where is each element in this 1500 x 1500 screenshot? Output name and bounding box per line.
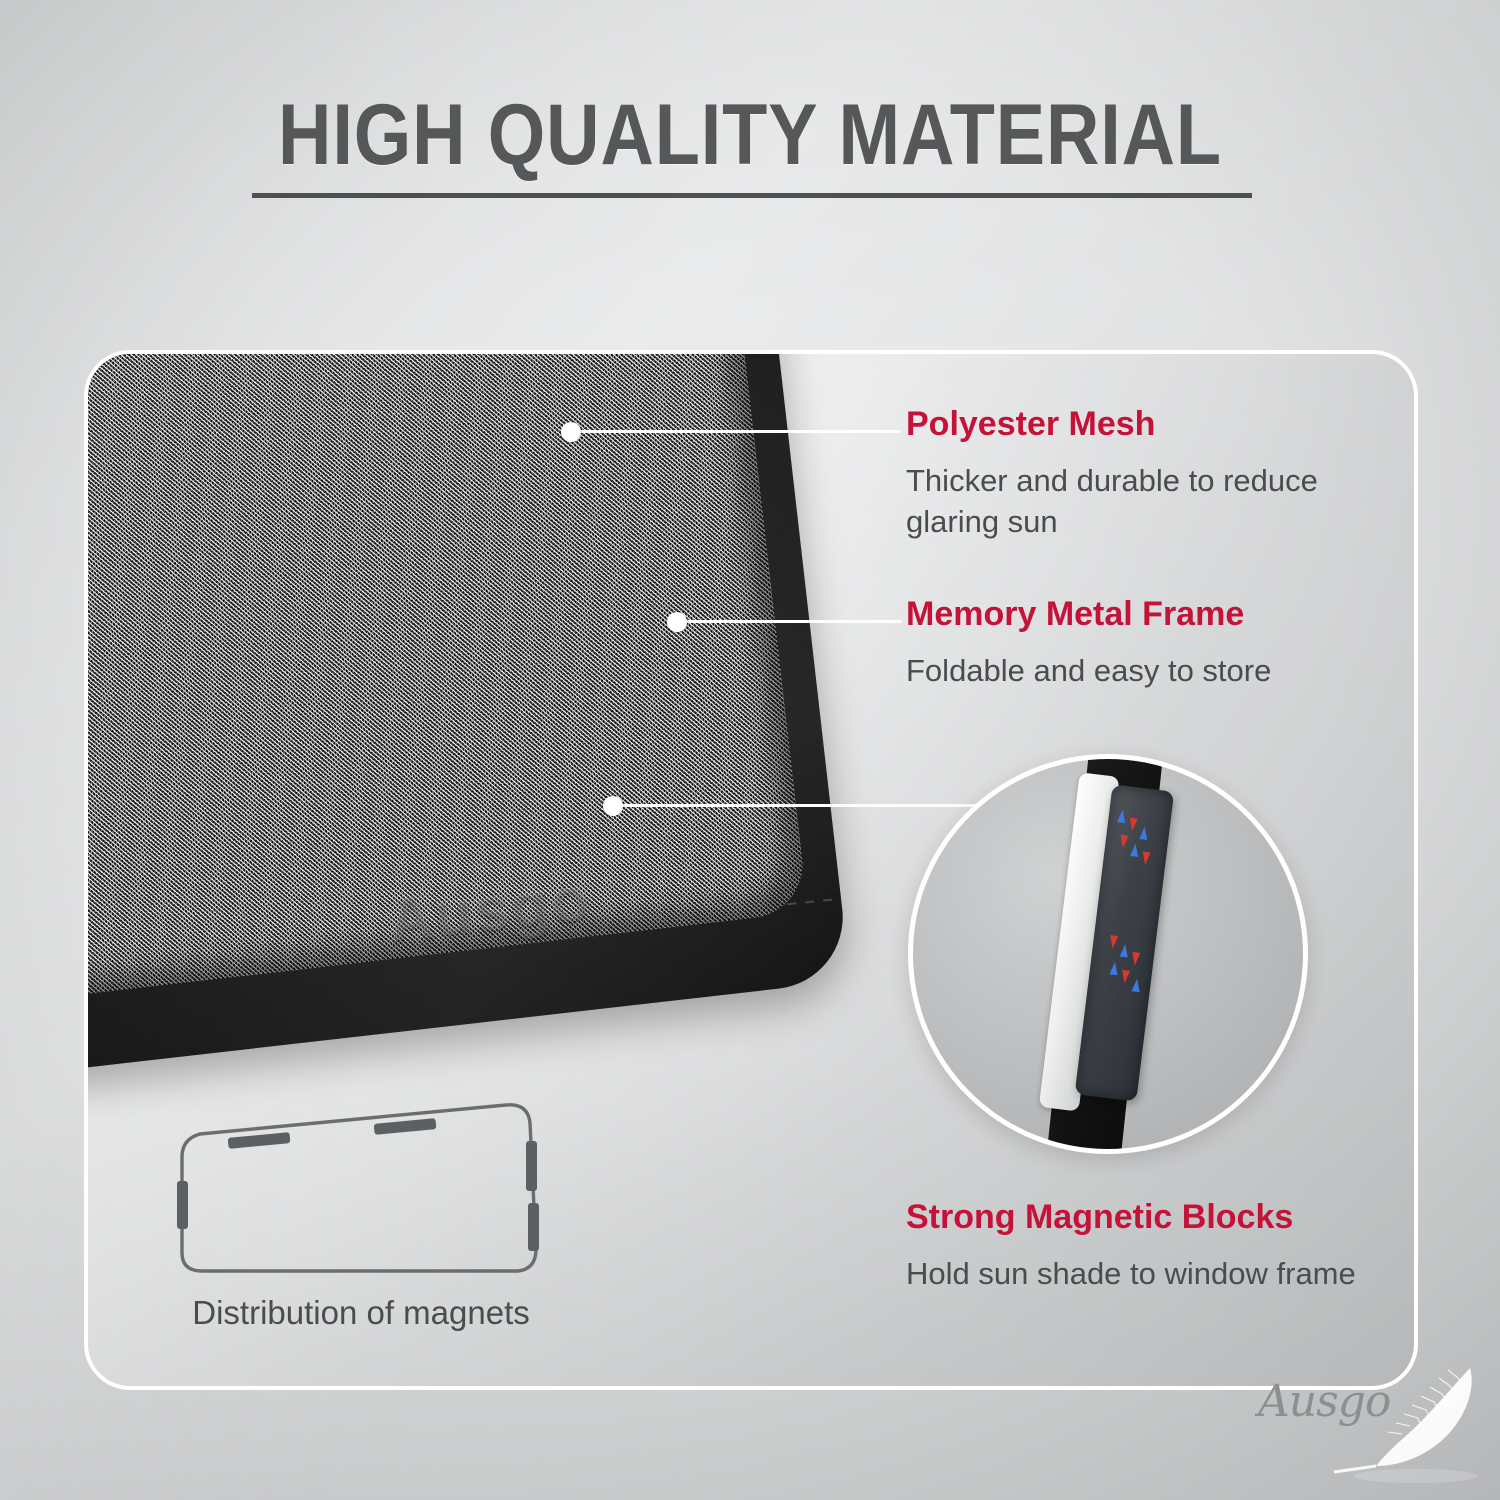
callout-body: Thicker and durable to reduce glaring su… — [906, 461, 1406, 543]
magnet-arrow-south-icon — [1131, 952, 1141, 966]
leader-line-magnetic-blocks — [612, 804, 1012, 807]
magnet-arrow-north-icon — [1139, 827, 1149, 841]
magnet-arrow-south-icon — [1119, 835, 1129, 849]
callout-strong-magnetic-blocks: Strong Magnetic Blocks Hold sun shade to… — [906, 1199, 1406, 1295]
magnet-block-left — [177, 1181, 188, 1229]
callout-heading: Memory Metal Frame — [906, 596, 1406, 633]
leader-dot-icon — [667, 612, 687, 632]
magnet-arrow-north-icon — [1130, 844, 1140, 858]
diagram-caption: Distribution of magnets — [136, 1294, 586, 1332]
callout-body: Foldable and easy to store — [906, 651, 1406, 692]
magnet-block-top-left — [228, 1132, 291, 1149]
magnet-strip-assembly — [1037, 754, 1180, 1154]
title-underline-rule — [252, 193, 1252, 198]
feather-quill-icon — [1298, 1354, 1488, 1484]
magnet-distribution-diagram — [176, 1099, 546, 1284]
infographic-poster: HIGH QUALITY MATERIAL Ausgo Polyester Me… — [0, 0, 1500, 1500]
window-outline-path — [182, 1105, 536, 1271]
magnet-block-top-right — [374, 1118, 437, 1135]
leader-dot-icon — [603, 796, 623, 816]
leader-line-memory-metal-frame — [676, 620, 902, 623]
callout-polyester-mesh: Polyester Mesh Thicker and durable to re… — [906, 406, 1406, 543]
magnetic-block-detail-inset — [908, 754, 1308, 1154]
leader-dot-icon — [561, 422, 581, 442]
content-card: Ausgo Polyester Mesh Thicker and durable… — [84, 350, 1418, 1390]
magnet-arrow-south-icon — [1109, 936, 1119, 950]
callout-memory-metal-frame: Memory Metal Frame Foldable and easy to … — [906, 596, 1406, 692]
magnet-arrow-north-icon — [1132, 979, 1142, 993]
magnet-arrow-south-icon — [1128, 818, 1138, 832]
magnet-arrow-north-icon — [1117, 810, 1127, 824]
polyester-mesh-panel — [84, 350, 808, 1011]
magnet-arrow-north-icon — [1120, 944, 1130, 958]
quill-reflection — [1354, 1469, 1478, 1483]
quill-shaft — [1334, 1466, 1376, 1472]
magnet-arrow-south-icon — [1121, 970, 1131, 984]
callout-heading: Polyester Mesh — [906, 406, 1406, 443]
callout-body: Hold sun shade to window frame — [906, 1254, 1406, 1295]
magnet-block-right-upper — [526, 1141, 537, 1191]
title-block: HIGH QUALITY MATERIAL — [0, 92, 1500, 178]
page-title: HIGH QUALITY MATERIAL — [105, 92, 1395, 178]
magnet-arrow-north-icon — [1109, 962, 1119, 976]
product-photo: Ausgo — [88, 354, 788, 1054]
magnet-block-right-lower — [528, 1203, 539, 1251]
callout-heading: Strong Magnetic Blocks — [906, 1199, 1406, 1236]
brand-logo: Ausgo — [1252, 1356, 1482, 1486]
leader-line-polyester-mesh — [570, 430, 900, 433]
magnet-arrow-south-icon — [1141, 852, 1151, 866]
